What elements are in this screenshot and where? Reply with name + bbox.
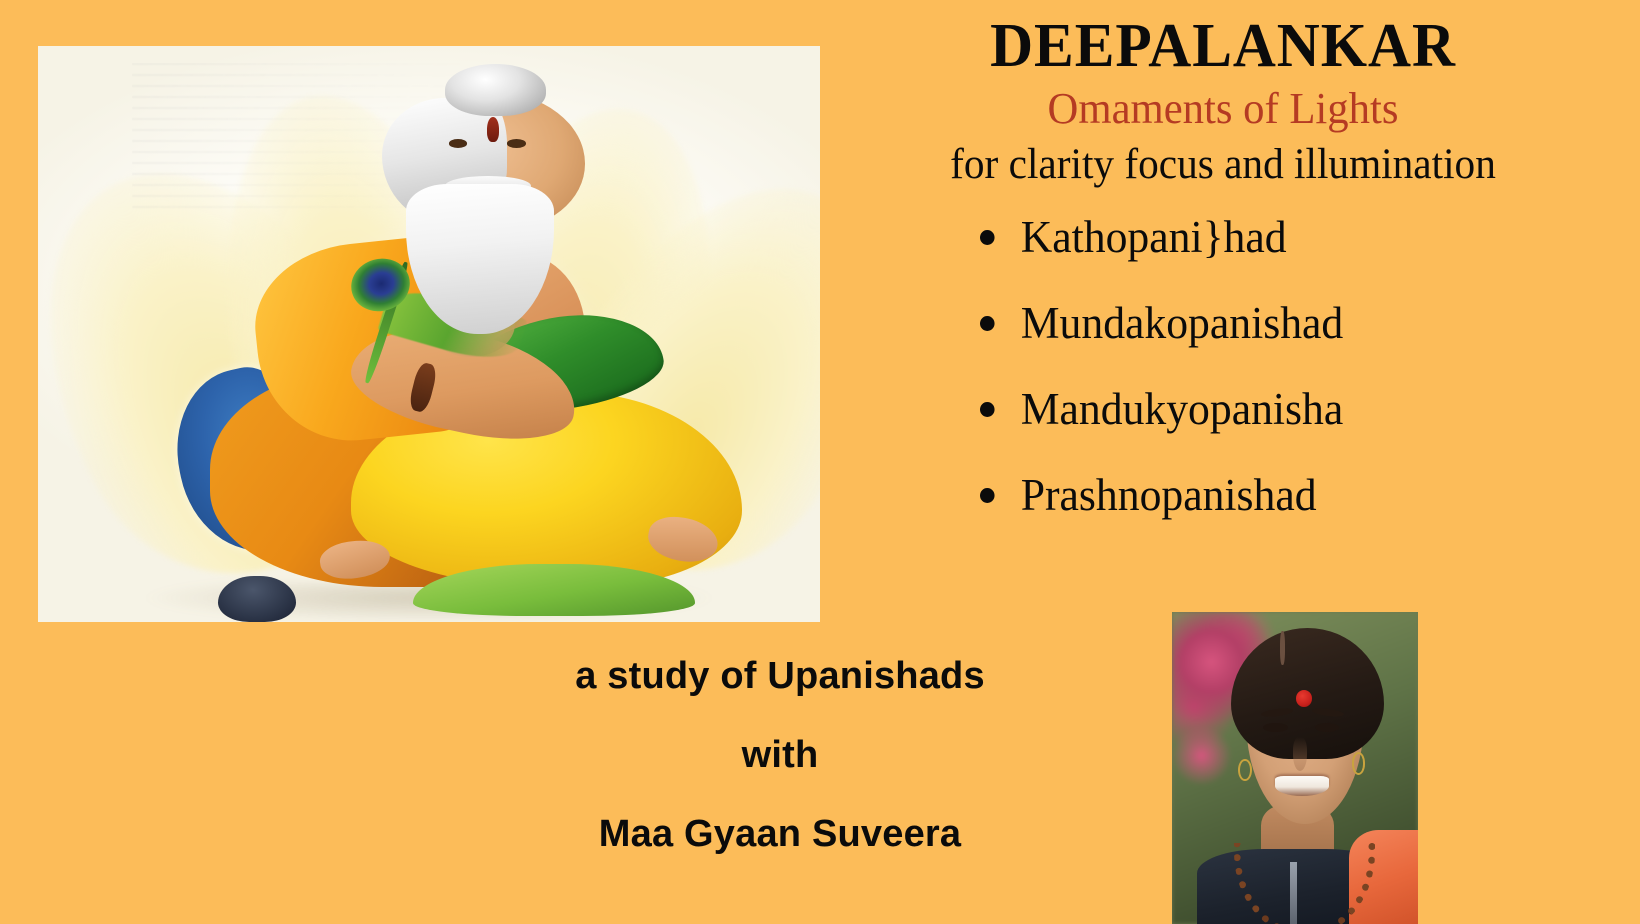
sage-eye bbox=[449, 139, 468, 148]
list-item: Prashnopanishad bbox=[980, 473, 1607, 518]
upanishad-list: Kathopani}had Mundakopanishad Mandukyopa… bbox=[820, 215, 1626, 518]
course-credit-block: a study of Upanishads with Maa Gyaan Suv… bbox=[330, 655, 1230, 856]
rudraksha-mala-icon bbox=[1234, 843, 1376, 924]
course-description: a study of Upanishads bbox=[330, 655, 1230, 698]
with-label: with bbox=[330, 734, 1230, 777]
sage-topknot bbox=[445, 64, 547, 116]
list-item: Kathopani}had bbox=[980, 215, 1607, 260]
presenter-portrait-photo bbox=[1172, 612, 1418, 924]
presenter-name: Maa Gyaan Suveera bbox=[330, 813, 1230, 856]
title-block: DEEPALANKAR Omaments of Lights for clari… bbox=[820, 14, 1626, 559]
tagline: for clarity focus and illumination bbox=[836, 141, 1610, 188]
portrait-nose bbox=[1293, 737, 1308, 771]
sage-illustration-image bbox=[38, 46, 820, 622]
list-item: Mundakopanishad bbox=[980, 301, 1607, 346]
sage-eye bbox=[507, 139, 526, 148]
portrait-eye bbox=[1263, 723, 1288, 732]
page-title: DEEPALANKAR bbox=[836, 14, 1610, 79]
presentation-slide: DEEPALANKAR Omaments of Lights for clari… bbox=[0, 0, 1640, 924]
clay-pot bbox=[218, 576, 296, 622]
subtitle: Omaments of Lights bbox=[832, 85, 1614, 133]
tilak-icon bbox=[487, 117, 499, 141]
portrait-hair-part bbox=[1280, 631, 1285, 665]
list-item: Mandukyopanisha bbox=[980, 387, 1607, 432]
sage-figure bbox=[38, 46, 820, 622]
